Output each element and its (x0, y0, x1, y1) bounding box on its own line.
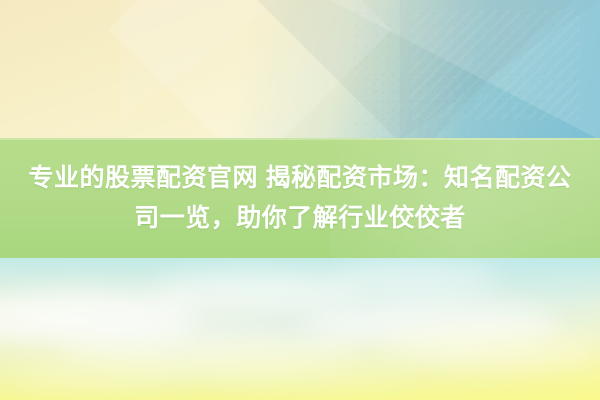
band-top-edge (0, 138, 600, 140)
triangle-shape-far-right (400, 0, 600, 140)
diamond-shape-right (252, 0, 577, 140)
background-lower-sky-gradient (0, 255, 600, 400)
headline-band: 专业的股票配资官网 揭秘配资市场：知名配资公 司一览，助你了解行业佼佼者 (0, 138, 600, 258)
diamond-shape-center (109, 0, 392, 140)
promo-banner: 专业的股票配资官网 揭秘配资市场：知名配资公 司一览，助你了解行业佼佼者 (0, 0, 600, 400)
triangle-shape-right (330, 0, 600, 140)
headline-line-2: 司一览，助你了解行业佼佼者 (29, 198, 572, 238)
dot-grid-pattern (350, 8, 580, 128)
banner-headline: 专业的股票配资官网 揭秘配资市场：知名配资公 司一览，助你了解行业佼佼者 (29, 158, 572, 238)
decorative-geometric-shapes (0, 0, 600, 140)
triangle-shape-left (120, 0, 280, 120)
headline-line-1: 专业的股票配资官网 揭秘配资市场：知名配资公 (29, 164, 572, 192)
diagonal-streak-pattern (410, 10, 580, 120)
dot-grid-pattern-secondary (370, 70, 550, 140)
